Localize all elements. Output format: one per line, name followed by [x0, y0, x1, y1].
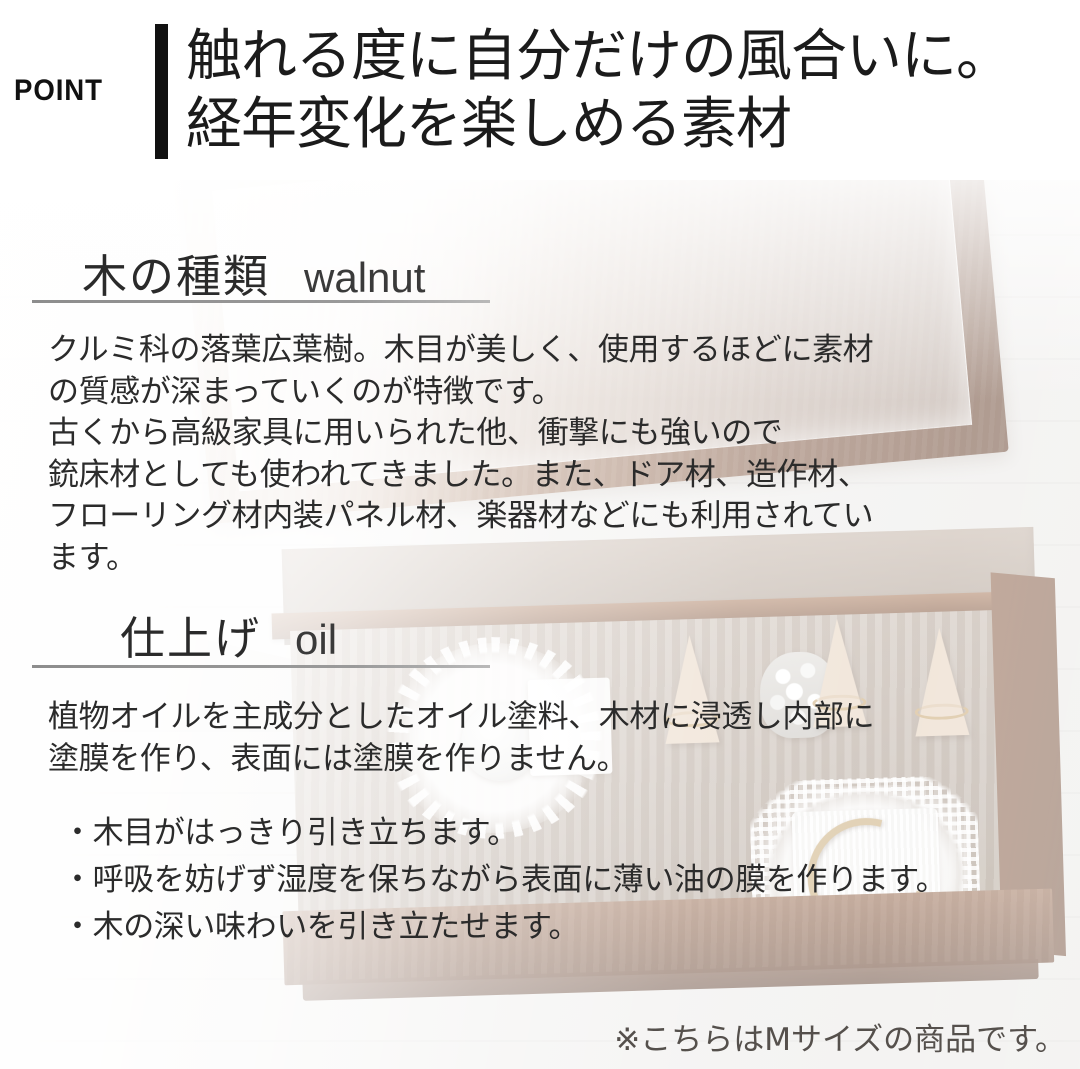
body-line: 古くから高級家具に用いられた他、衝撃にも強いので — [48, 413, 873, 455]
header-band: POINT 触れる度に自分だけの風合いに。 経年変化を楽しめる素材 — [0, 0, 1080, 180]
body-line: ます。 — [48, 538, 873, 580]
overlay-text-layer: 木の種類 walnut クルミ科の落葉広葉樹。木目が美しく、使用するほどに素材 … — [0, 172, 1080, 1069]
finish-benefits-list: ・木目がはっきり引き立ちます。 ・呼吸を妨げず湿度を保ちながら表面に薄い油の膜を… — [62, 810, 946, 951]
headline-line-2: 経年変化を楽しめる素材 — [186, 91, 1066, 159]
list-item: ・木の深い味わいを引き立たせます。 — [62, 904, 946, 951]
section-body-wood-type: クルミ科の落葉広葉樹。木目が美しく、使用するほどに素材 の質感が深まっていくのが… — [48, 330, 873, 579]
point-divider-bar — [155, 24, 168, 159]
body-line: フローリング材内装パネル材、楽器材などにも利用されてい — [48, 496, 873, 538]
section-heading-finish: 仕上げ oil — [120, 602, 337, 667]
body-line: の質感が深まっていくのが特徴です。 — [48, 372, 873, 414]
section-heading-en: oil — [295, 616, 337, 664]
body-line: 塗膜を作り、表面には塗膜を作りません。 — [48, 739, 874, 781]
product-photo: 木の種類 walnut クルミ科の落葉広葉樹。木目が美しく、使用するほどに素材 … — [0, 172, 1080, 1069]
body-line: 植物オイルを主成分としたオイル塗料、木材に浸透し内部に — [48, 697, 874, 739]
section-heading-jp: 仕上げ — [120, 602, 261, 667]
body-line: クルミ科の落葉広葉樹。木目が美しく、使用するほどに素材 — [48, 330, 873, 372]
headline-line-1: 触れる度に自分だけの風合いに。 — [186, 23, 1066, 91]
section-heading-wood-type: 木の種類 walnut — [82, 240, 425, 305]
section-body-finish: 植物オイルを主成分としたオイル塗料、木材に浸透し内部に 塗膜を作り、表面には塗膜… — [48, 697, 874, 780]
list-item: ・木目がはっきり引き立ちます。 — [62, 810, 946, 857]
point-label: POINT — [14, 74, 135, 108]
size-footnote: ※こちらはMサイズの商品です。 — [614, 1014, 1066, 1059]
section-heading-en: walnut — [304, 254, 425, 302]
section-rule-finish — [32, 665, 490, 668]
body-line: 銃床材としても使われてきました。また、ドア材、造作材、 — [48, 455, 873, 497]
section-heading-jp: 木の種類 — [82, 240, 270, 305]
section-rule-wood-type — [32, 300, 490, 303]
list-item: ・呼吸を妨げず湿度を保ちながら表面に薄い油の膜を作ります。 — [62, 857, 946, 904]
page-title: 触れる度に自分だけの風合いに。 経年変化を楽しめる素材 — [186, 23, 1066, 160]
product-detail-image: POINT 触れる度に自分だけの風合いに。 経年変化を楽しめる素材 — [0, 0, 1080, 1069]
